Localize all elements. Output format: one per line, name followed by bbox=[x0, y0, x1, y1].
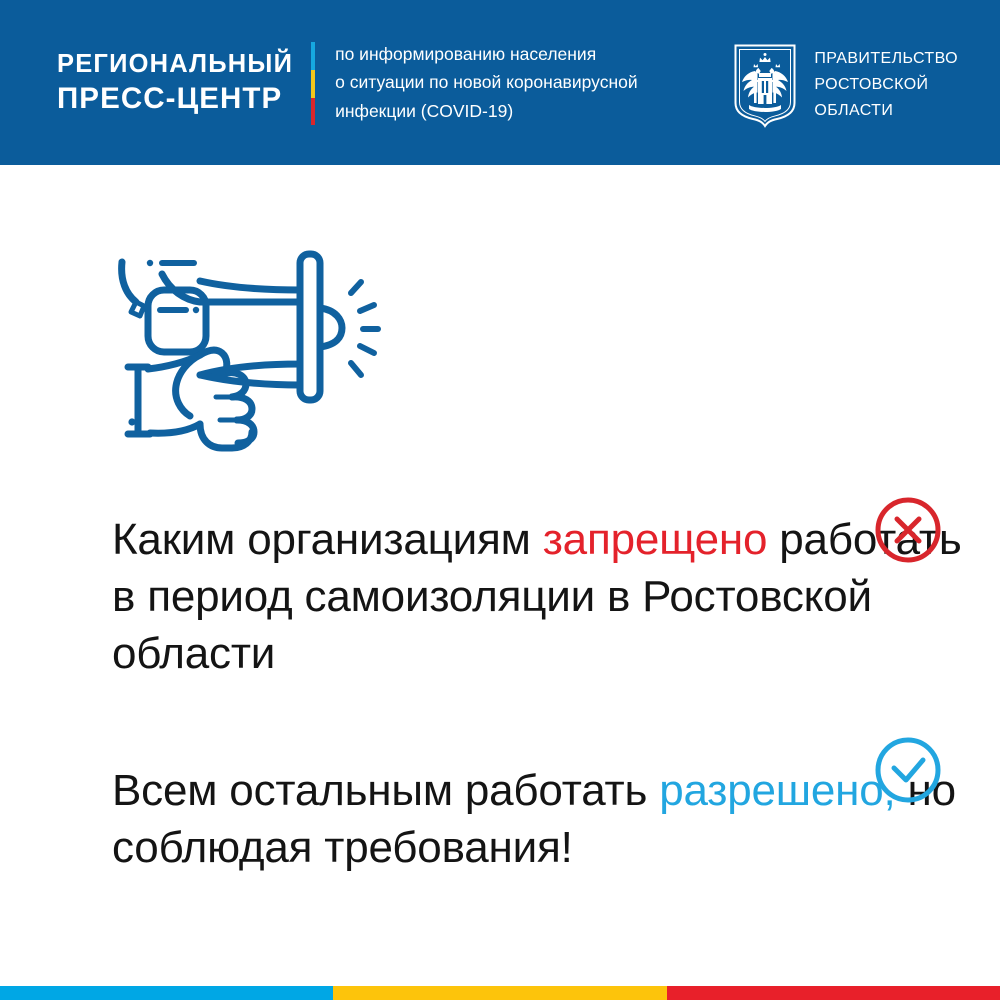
divider-segment-cyan bbox=[311, 42, 315, 71]
poster-root: РЕГИОНАЛЬНЫЙ ПРЕСС-ЦЕНТР по информирован… bbox=[0, 0, 1000, 1000]
tricolor-divider bbox=[311, 42, 315, 126]
footer-bar-segment-red bbox=[667, 986, 1000, 1000]
press-center-brand: РЕГИОНАЛЬНЫЙ ПРЕСС-ЦЕНТР bbox=[57, 48, 293, 116]
header-banner: РЕГИОНАЛЬНЫЙ ПРЕСС-ЦЕНТР по информирован… bbox=[0, 0, 1000, 165]
government-line-2: РОСТОВСКОЙ bbox=[814, 72, 958, 98]
government-lockup: ПРАВИТЕЛЬСТВО РОСТОВСКОЙ ОБЛАСТИ bbox=[733, 42, 958, 129]
circle-x-icon bbox=[873, 495, 943, 565]
government-line-3: ОБЛАСТИ bbox=[814, 98, 958, 124]
message-prohibited-highlight: запрещено bbox=[543, 515, 768, 564]
header-subtitle: по информированию населения о ситуации п… bbox=[335, 40, 638, 125]
message-permitted: Всем остальным работать разрешено, но со… bbox=[112, 762, 982, 876]
divider-segment-yellow bbox=[311, 70, 315, 98]
megaphone-in-hand-icon bbox=[104, 228, 394, 468]
footer-tricolor-bar bbox=[0, 986, 1000, 1000]
government-title: ПРАВИТЕЛЬСТВО РОСТОВСКОЙ ОБЛАСТИ bbox=[814, 42, 958, 124]
footer-bar-segment-cyan bbox=[0, 986, 333, 1000]
brand-line-regional: РЕГИОНАЛЬНЫЙ bbox=[57, 48, 293, 81]
message-prohibited-seg-1: Каким организациям bbox=[112, 515, 543, 564]
circle-check-icon bbox=[873, 735, 943, 805]
header-subtitle-line-2: о ситуации по новой коронавирусной bbox=[335, 68, 638, 96]
rostov-oblast-coat-of-arms-icon bbox=[733, 43, 797, 129]
government-line-1: ПРАВИТЕЛЬСТВО bbox=[814, 46, 958, 72]
footer-bar-segment-yellow bbox=[333, 986, 666, 1000]
header-subtitle-line-3: инфекции (COVID-19) bbox=[335, 97, 638, 125]
divider-segment-red bbox=[311, 98, 315, 126]
brand-line-press-center: ПРЕСС-ЦЕНТР bbox=[57, 81, 293, 116]
header-subtitle-line-1: по информированию населения bbox=[335, 40, 638, 68]
message-prohibited: Каким организациям запрещено работать в … bbox=[112, 511, 972, 682]
message-permitted-seg-1: Всем остальным работать bbox=[112, 766, 659, 815]
message-permitted-highlight: разрешено, bbox=[659, 766, 895, 815]
